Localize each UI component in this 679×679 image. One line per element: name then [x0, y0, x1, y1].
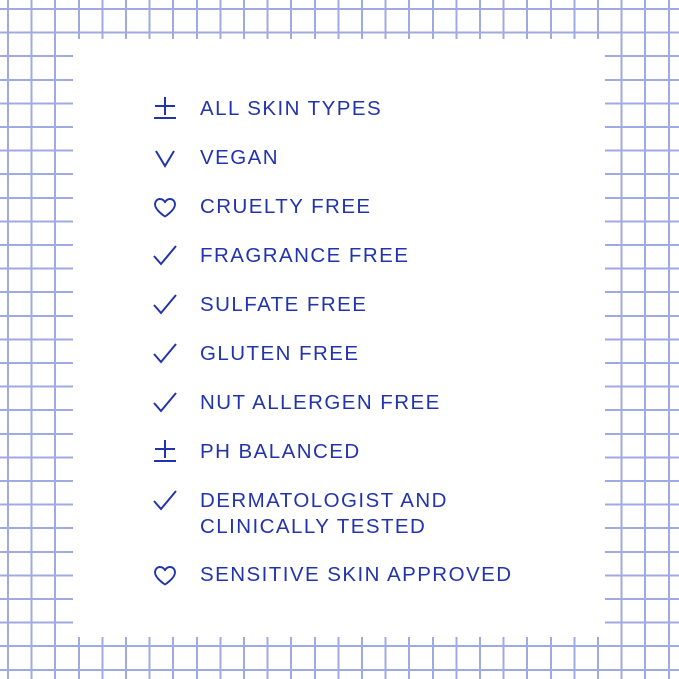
claim-label: NUT ALLERGEN FREE — [200, 390, 441, 416]
claim-row: GLUTEN FREE — [152, 341, 359, 368]
claim-row: VEGAN — [152, 145, 279, 172]
heart-icon — [152, 195, 186, 221]
claim-label: DERMATOLOGIST AND CLINICALLY TESTED — [200, 488, 448, 540]
claim-row: CRUELTY FREE — [152, 194, 372, 221]
checkmark-icon — [152, 293, 186, 319]
claim-label: SENSITIVE SKIN APPROVED — [200, 562, 512, 588]
checkmark-icon — [152, 391, 186, 417]
claim-row: PH BALANCED — [152, 439, 361, 466]
plus-minus-icon — [152, 97, 186, 123]
claim-label: VEGAN — [200, 145, 279, 171]
claim-row: ALL SKIN TYPES — [152, 96, 382, 123]
checkmark-icon — [152, 342, 186, 368]
claim-row: SULFATE FREE — [152, 292, 367, 319]
plus-minus-icon — [152, 440, 186, 466]
heart-icon — [152, 563, 186, 589]
claim-row: FRAGRANCE FREE — [152, 243, 409, 270]
claim-row: SENSITIVE SKIN APPROVED — [152, 562, 512, 589]
claim-label: ALL SKIN TYPES — [200, 96, 382, 122]
product-claims-card: ALL SKIN TYPESVEGANCRUELTY FREEFRAGRANCE… — [73, 39, 605, 637]
v-check-icon — [152, 146, 186, 172]
claim-row: NUT ALLERGEN FREE — [152, 390, 441, 417]
checkmark-icon — [152, 489, 186, 515]
claim-label: SULFATE FREE — [200, 292, 367, 318]
claim-row: DERMATOLOGIST AND CLINICALLY TESTED — [152, 488, 448, 540]
claim-label: FRAGRANCE FREE — [200, 243, 409, 269]
claim-label: GLUTEN FREE — [200, 341, 359, 367]
claim-label: CRUELTY FREE — [200, 194, 372, 220]
claim-label: PH BALANCED — [200, 439, 361, 465]
checkmark-icon — [152, 244, 186, 270]
product-claims-graphic: ALL SKIN TYPESVEGANCRUELTY FREEFRAGRANCE… — [0, 0, 679, 679]
